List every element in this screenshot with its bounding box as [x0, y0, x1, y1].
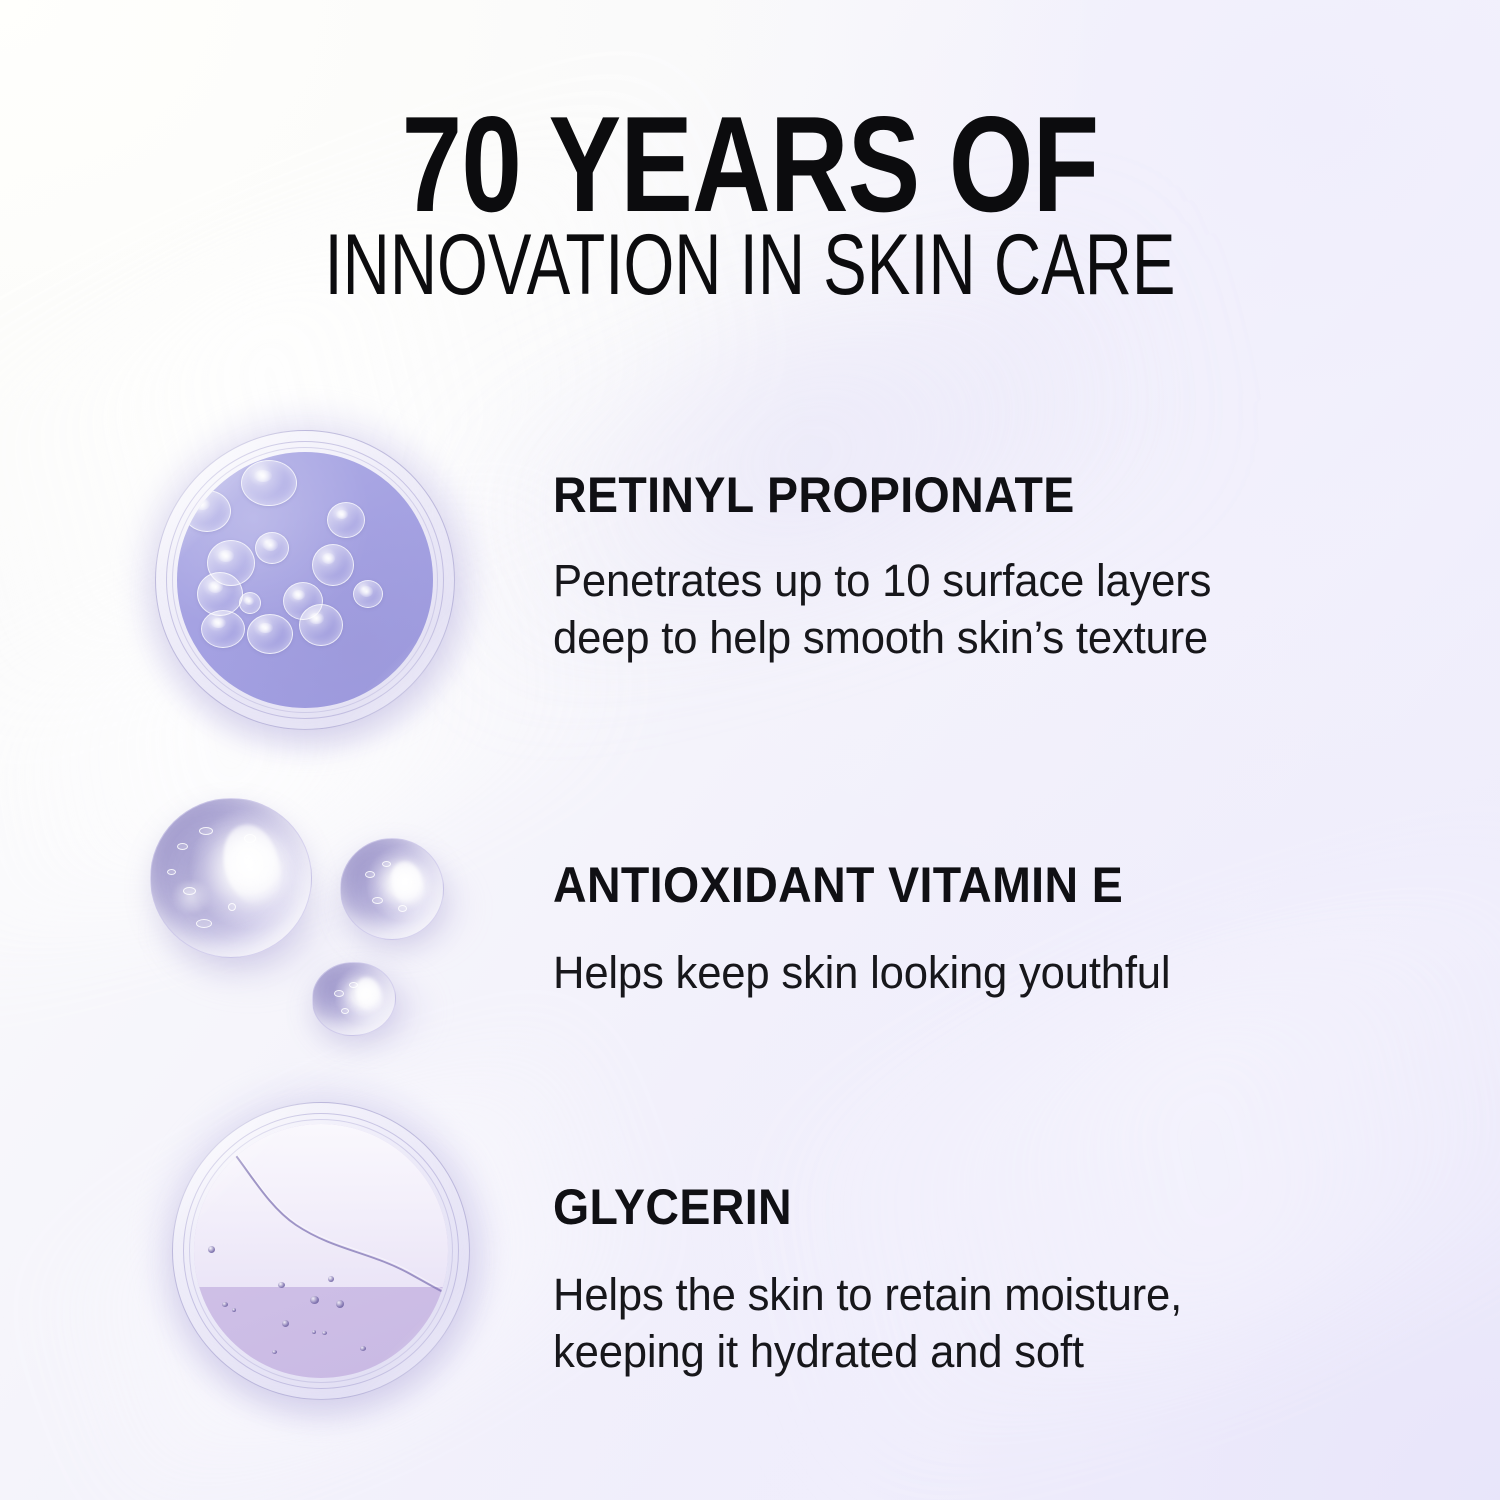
droplet-highlight [215, 819, 288, 912]
ingredient-visual-antioxidant-vitamin-e [140, 790, 470, 1050]
bubble [247, 614, 293, 654]
droplet-micro-bubble [334, 990, 344, 997]
ingredient-block-retinyl-propionate: RETINYL PROPIONATE Penetrates up to 10 s… [553, 466, 1232, 666]
bubble [299, 604, 343, 646]
headline-primary: 70 YEARS OF [150, 96, 1350, 232]
bubble [241, 460, 297, 506]
droplet-micro-bubble [177, 843, 188, 850]
bubble [183, 490, 231, 532]
dish-gel-fill [194, 1124, 448, 1378]
gel-bubble [312, 1330, 316, 1334]
droplet-micro-bubble [382, 861, 391, 867]
gel-bubble [278, 1282, 285, 1288]
gel-bubble [328, 1276, 334, 1282]
bubble [327, 502, 365, 538]
bubble [255, 532, 289, 564]
droplet-micro-bubble [244, 834, 256, 843]
ingredient-description: Penetrates up to 10 surface layers deep … [553, 552, 1211, 666]
droplet-micro-bubble [341, 1008, 349, 1014]
ingredient-name: RETINYL PROPIONATE [553, 466, 1184, 524]
petri-dish-bubbles [155, 430, 455, 730]
ingredient-name: GLYCERIN [553, 1178, 1156, 1236]
headline-secondary: INNOVATION IN SKIN CARE [180, 222, 1320, 308]
bubble [312, 544, 354, 586]
gel-bubble [336, 1300, 344, 1308]
ingredient-description: Helps the skin to retain moisture, keepi… [553, 1266, 1182, 1380]
ingredient-visual-retinyl-propionate [155, 430, 455, 730]
gel-bubble [360, 1346, 366, 1351]
droplet-secondary-highlight [170, 881, 212, 913]
gel-bubble [272, 1350, 277, 1354]
gel-droplet-large [150, 798, 312, 958]
petri-dish-gel [172, 1102, 470, 1400]
gel-bubble [322, 1331, 327, 1335]
bubble [201, 610, 245, 648]
gel-bubble [232, 1308, 236, 1312]
droplet-highlight [352, 975, 384, 1014]
gel-bubble [208, 1246, 215, 1253]
gel-bubble [282, 1320, 289, 1327]
dish-liquid-fill [177, 452, 433, 708]
ingredient-block-antioxidant-vitamin-e: ANTIOXIDANT VITAMIN E Helps keep skin lo… [553, 856, 1189, 1001]
gel-droplet-small [312, 962, 396, 1036]
droplet-micro-bubble [167, 869, 176, 875]
droplet-micro-bubble [199, 827, 213, 835]
droplet-micro-bubble [365, 871, 375, 878]
gel-bubble [222, 1302, 228, 1307]
gel-clear-region [194, 1124, 448, 1287]
droplet-micro-bubble [228, 903, 236, 911]
ingredient-description: Helps keep skin looking youthful [553, 944, 1170, 1001]
ingredient-name: ANTIOXIDANT VITAMIN E [553, 856, 1145, 914]
droplet-micro-bubble [372, 897, 383, 904]
gel-droplet-medium [340, 838, 444, 940]
bubble [239, 592, 261, 614]
ingredient-block-glycerin: GLYCERIN Helps the skin to retain moistu… [553, 1178, 1202, 1380]
gel-bubble [310, 1296, 319, 1304]
promo-image-canvas: 70 YEARS OF INNOVATION IN SKIN CARE [0, 0, 1500, 1500]
ingredient-visual-glycerin [172, 1102, 470, 1400]
droplet-micro-bubble [349, 982, 358, 988]
droplet-micro-bubble [196, 919, 212, 928]
bubble [353, 580, 383, 608]
droplet-micro-bubble [398, 905, 407, 912]
